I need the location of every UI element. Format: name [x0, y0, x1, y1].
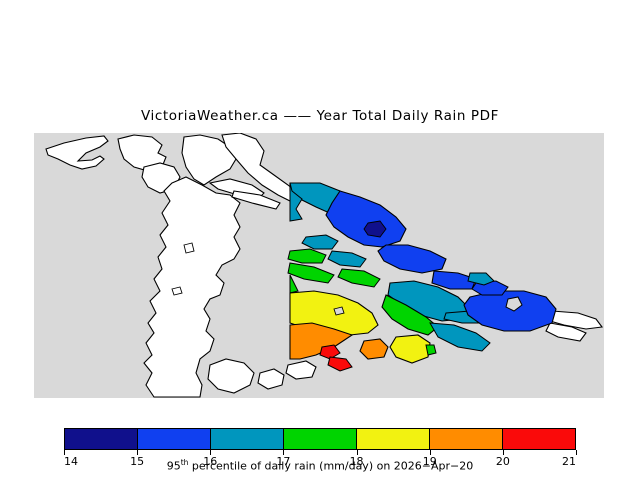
caption-superscript: th: [181, 458, 189, 467]
sea-background: [34, 133, 604, 398]
lake-detail-3: [172, 287, 182, 295]
colorbar-segment-16-17: [210, 429, 283, 449]
colorbar-caption: 95th percentile of daily rain (mm/day) o…: [0, 458, 640, 473]
colorbar-segment-18-19: [356, 429, 429, 449]
region-south-yellow-islet-tip: [426, 345, 436, 355]
map-svg: [34, 133, 604, 398]
colorbar-segment-14-15: [65, 429, 137, 449]
lake-detail-1: [334, 307, 344, 315]
colorbar-segment-20-21: [502, 429, 575, 449]
colorbar: [64, 428, 576, 450]
weather-map-page: VictoriaWeather.ca —— Year Total Daily R…: [0, 0, 640, 480]
page-title: VictoriaWeather.ca —— Year Total Daily R…: [0, 108, 640, 124]
colorbar-segment-15-16: [137, 429, 210, 449]
colorbar-segment-17-18: [283, 429, 356, 449]
map-canvas: [34, 133, 604, 398]
lake-detail-2: [184, 243, 194, 253]
colorbar-segment-19-20: [429, 429, 502, 449]
